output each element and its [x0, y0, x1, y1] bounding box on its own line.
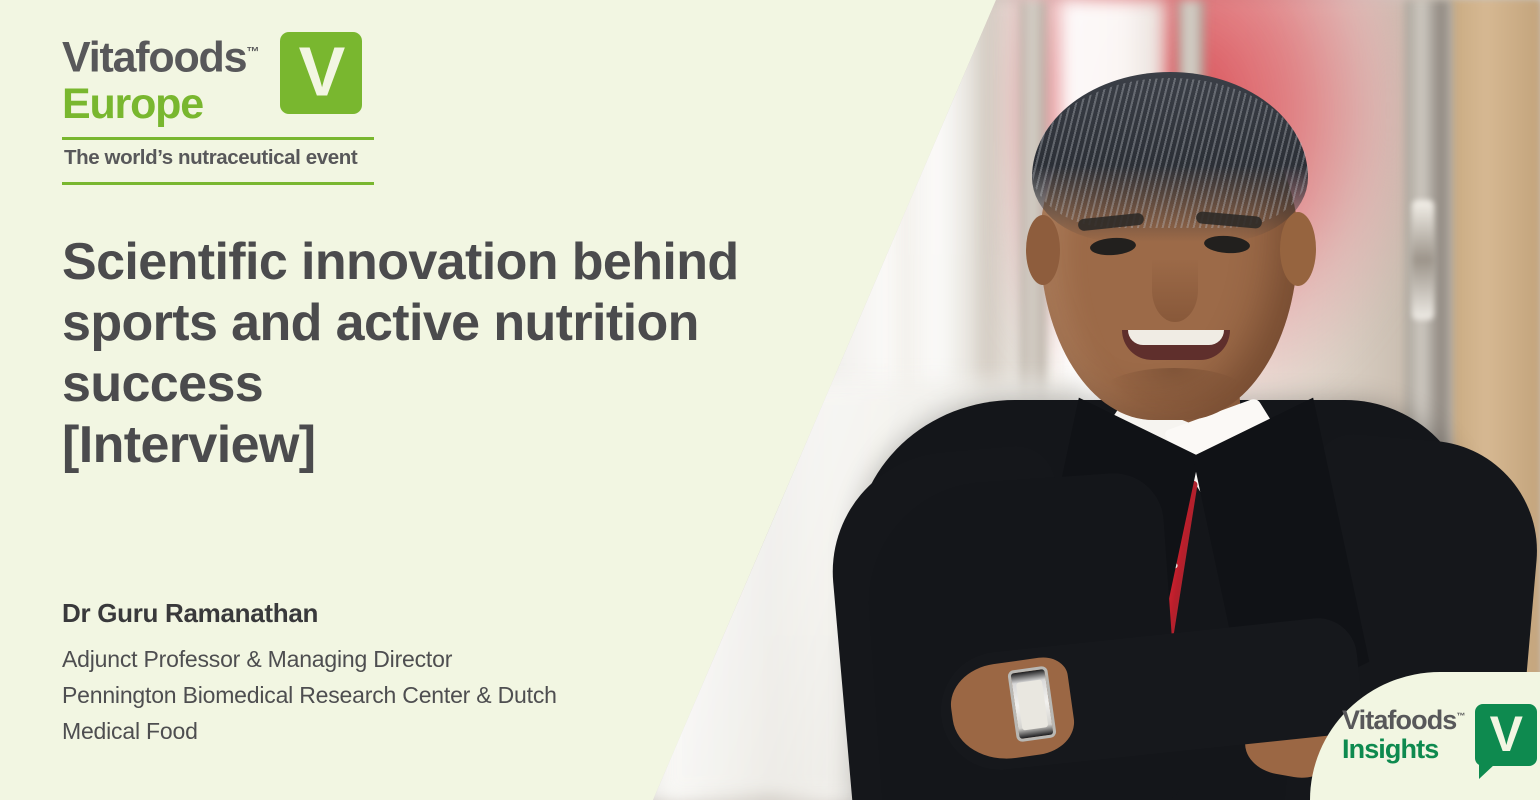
content-panel: Vitafoods™ Europe V The world’s nutraceu…: [0, 0, 660, 800]
insights-trademark-icon: ™: [1456, 711, 1464, 721]
chin-shadow: [1104, 368, 1244, 412]
logo-wordmark: Vitafoods™ Europe: [62, 28, 272, 127]
logo-tagline: The world’s nutraceutical event: [62, 140, 374, 174]
logo-v-badge: V: [280, 32, 362, 114]
page-title: Scientific innovation behind sports and …: [62, 232, 822, 476]
speaker-organisation-line-2: Medical Food: [62, 713, 662, 749]
speaker-name: Dr Guru Ramanathan: [62, 598, 662, 629]
nose: [1152, 258, 1198, 322]
title-line-4: [Interview]: [62, 415, 822, 476]
insights-word-vitafoods: Vitafoods: [1342, 705, 1456, 735]
logo-word-europe: Europe: [62, 81, 272, 127]
speaker-role: Adjunct Professor & Managing Director: [62, 641, 662, 677]
title-line-2: sports and active nutrition: [62, 293, 822, 354]
speaker-details: Dr Guru Ramanathan Adjunct Professor & M…: [62, 598, 662, 749]
insights-v-badge: V: [1475, 704, 1537, 766]
insights-v-letter: V: [1475, 709, 1537, 759]
watch-face: [1016, 679, 1048, 730]
insights-wordmark: Vitafoods™ Insights: [1342, 707, 1465, 763]
speech-bubble-tail-icon: [1479, 764, 1495, 779]
ear-left: [1026, 215, 1060, 285]
logo-rule-bottom: [62, 182, 374, 185]
trademark-icon: ™: [246, 44, 258, 59]
teeth: [1128, 330, 1224, 345]
mouth: [1122, 330, 1230, 360]
speaker-organisation-line-1: Pennington Biomedical Research Center & …: [62, 677, 662, 713]
title-line-1: Scientific innovation behind: [62, 232, 822, 293]
ear-right: [1280, 212, 1316, 286]
promo-banner: Vitafoods™ Europe V The world’s nutraceu…: [0, 0, 1540, 800]
insights-word-insights: Insights: [1342, 736, 1465, 763]
vitafoods-europe-logo[interactable]: Vitafoods™ Europe V The world’s nutraceu…: [62, 28, 374, 185]
logo-v-letter: V: [280, 37, 362, 107]
logo-word-vitafoods: Vitafoods: [62, 33, 246, 81]
title-line-3: success: [62, 354, 822, 415]
